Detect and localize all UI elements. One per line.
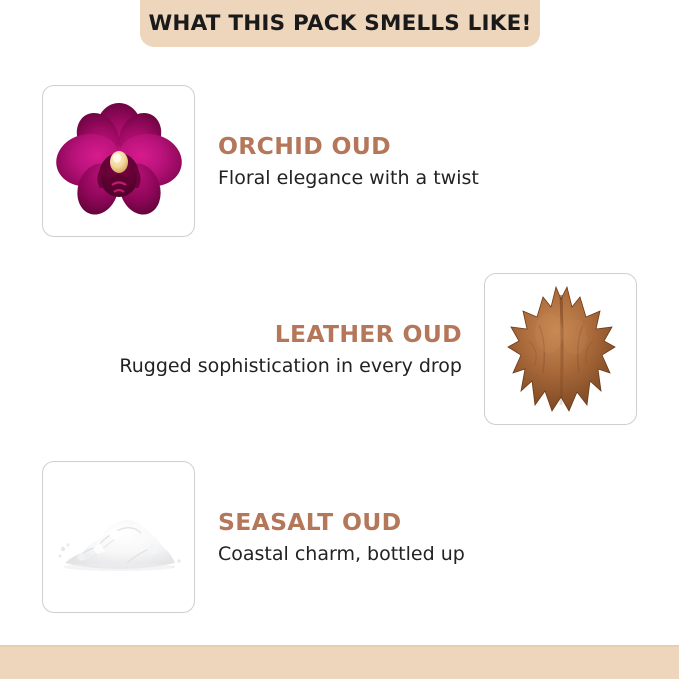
scent-title-seasalt: SEASALT OUD (218, 509, 401, 536)
scent-title-leather: LEATHER OUD (275, 321, 462, 348)
orchid-icon (51, 93, 187, 229)
scent-row-leather: LEATHER OUD Rugged sophistication in eve… (0, 272, 679, 426)
scent-title-orchid: ORCHID OUD (218, 133, 391, 160)
scent-description-orchid: Floral elegance with a twist (218, 167, 479, 190)
scent-row-orchid: ORCHID OUD Floral elegance with a twist (0, 84, 679, 238)
footer-bar (0, 645, 679, 679)
leather-hide-image (484, 273, 637, 425)
seasalt-text-block: SEASALT OUD Coastal charm, bottled up (195, 509, 679, 566)
seasalt-pile-image (42, 461, 195, 613)
salt-pile-icon (49, 477, 189, 597)
orchid-text-block: ORCHID OUD Floral elegance with a twist (195, 133, 679, 190)
banner-title: WHAT THIS PACK SMELLS LIKE! (149, 11, 532, 36)
scent-description-seasalt: Coastal charm, bottled up (218, 543, 465, 566)
scent-description-leather: Rugged sophistication in every drop (119, 355, 462, 378)
cowhide-icon (499, 281, 623, 417)
orchid-flower-image (42, 85, 195, 237)
leather-text-block: LEATHER OUD Rugged sophistication in eve… (0, 321, 484, 378)
header-banner: WHAT THIS PACK SMELLS LIKE! (140, 0, 540, 47)
scent-row-seasalt: SEASALT OUD Coastal charm, bottled up (0, 460, 679, 614)
